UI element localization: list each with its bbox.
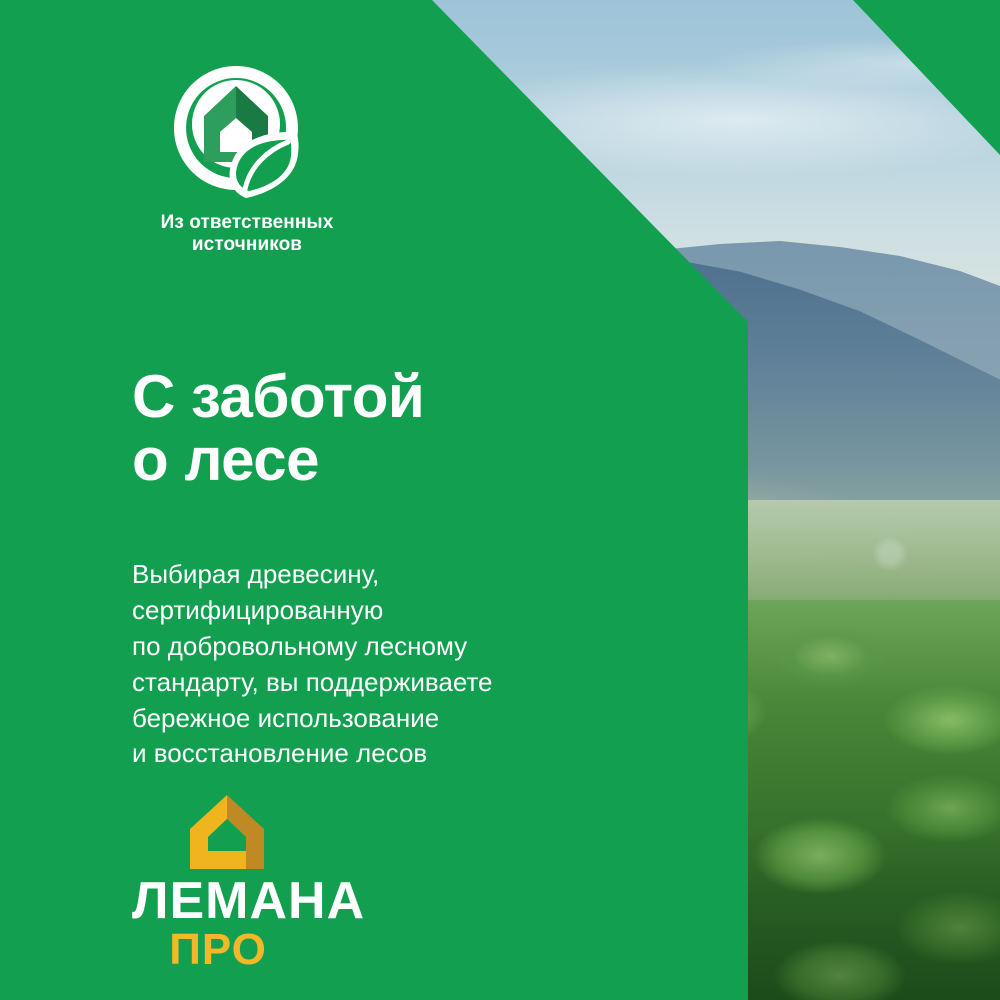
brand-wordmark: ЛЕМАНА [132, 877, 382, 926]
poster: Из ответственных источников С заботой о … [0, 0, 1000, 1000]
body-paragraph: Выбирая древесину, сертифицированную по … [132, 557, 672, 772]
lemana-house-icon [184, 793, 270, 871]
eco-badge: Из ответственных источников [132, 58, 362, 256]
brand-subtitle: ПРО [132, 928, 304, 972]
poster-content: Из ответственных источников С заботой о … [0, 0, 1000, 1000]
page-title: С заботой о лесе [132, 366, 652, 491]
house-leaf-circle-icon [166, 58, 306, 198]
eco-badge-caption: Из ответственных источников [132, 212, 362, 256]
brand-logo: ЛЕМАНА ПРО [132, 793, 382, 972]
